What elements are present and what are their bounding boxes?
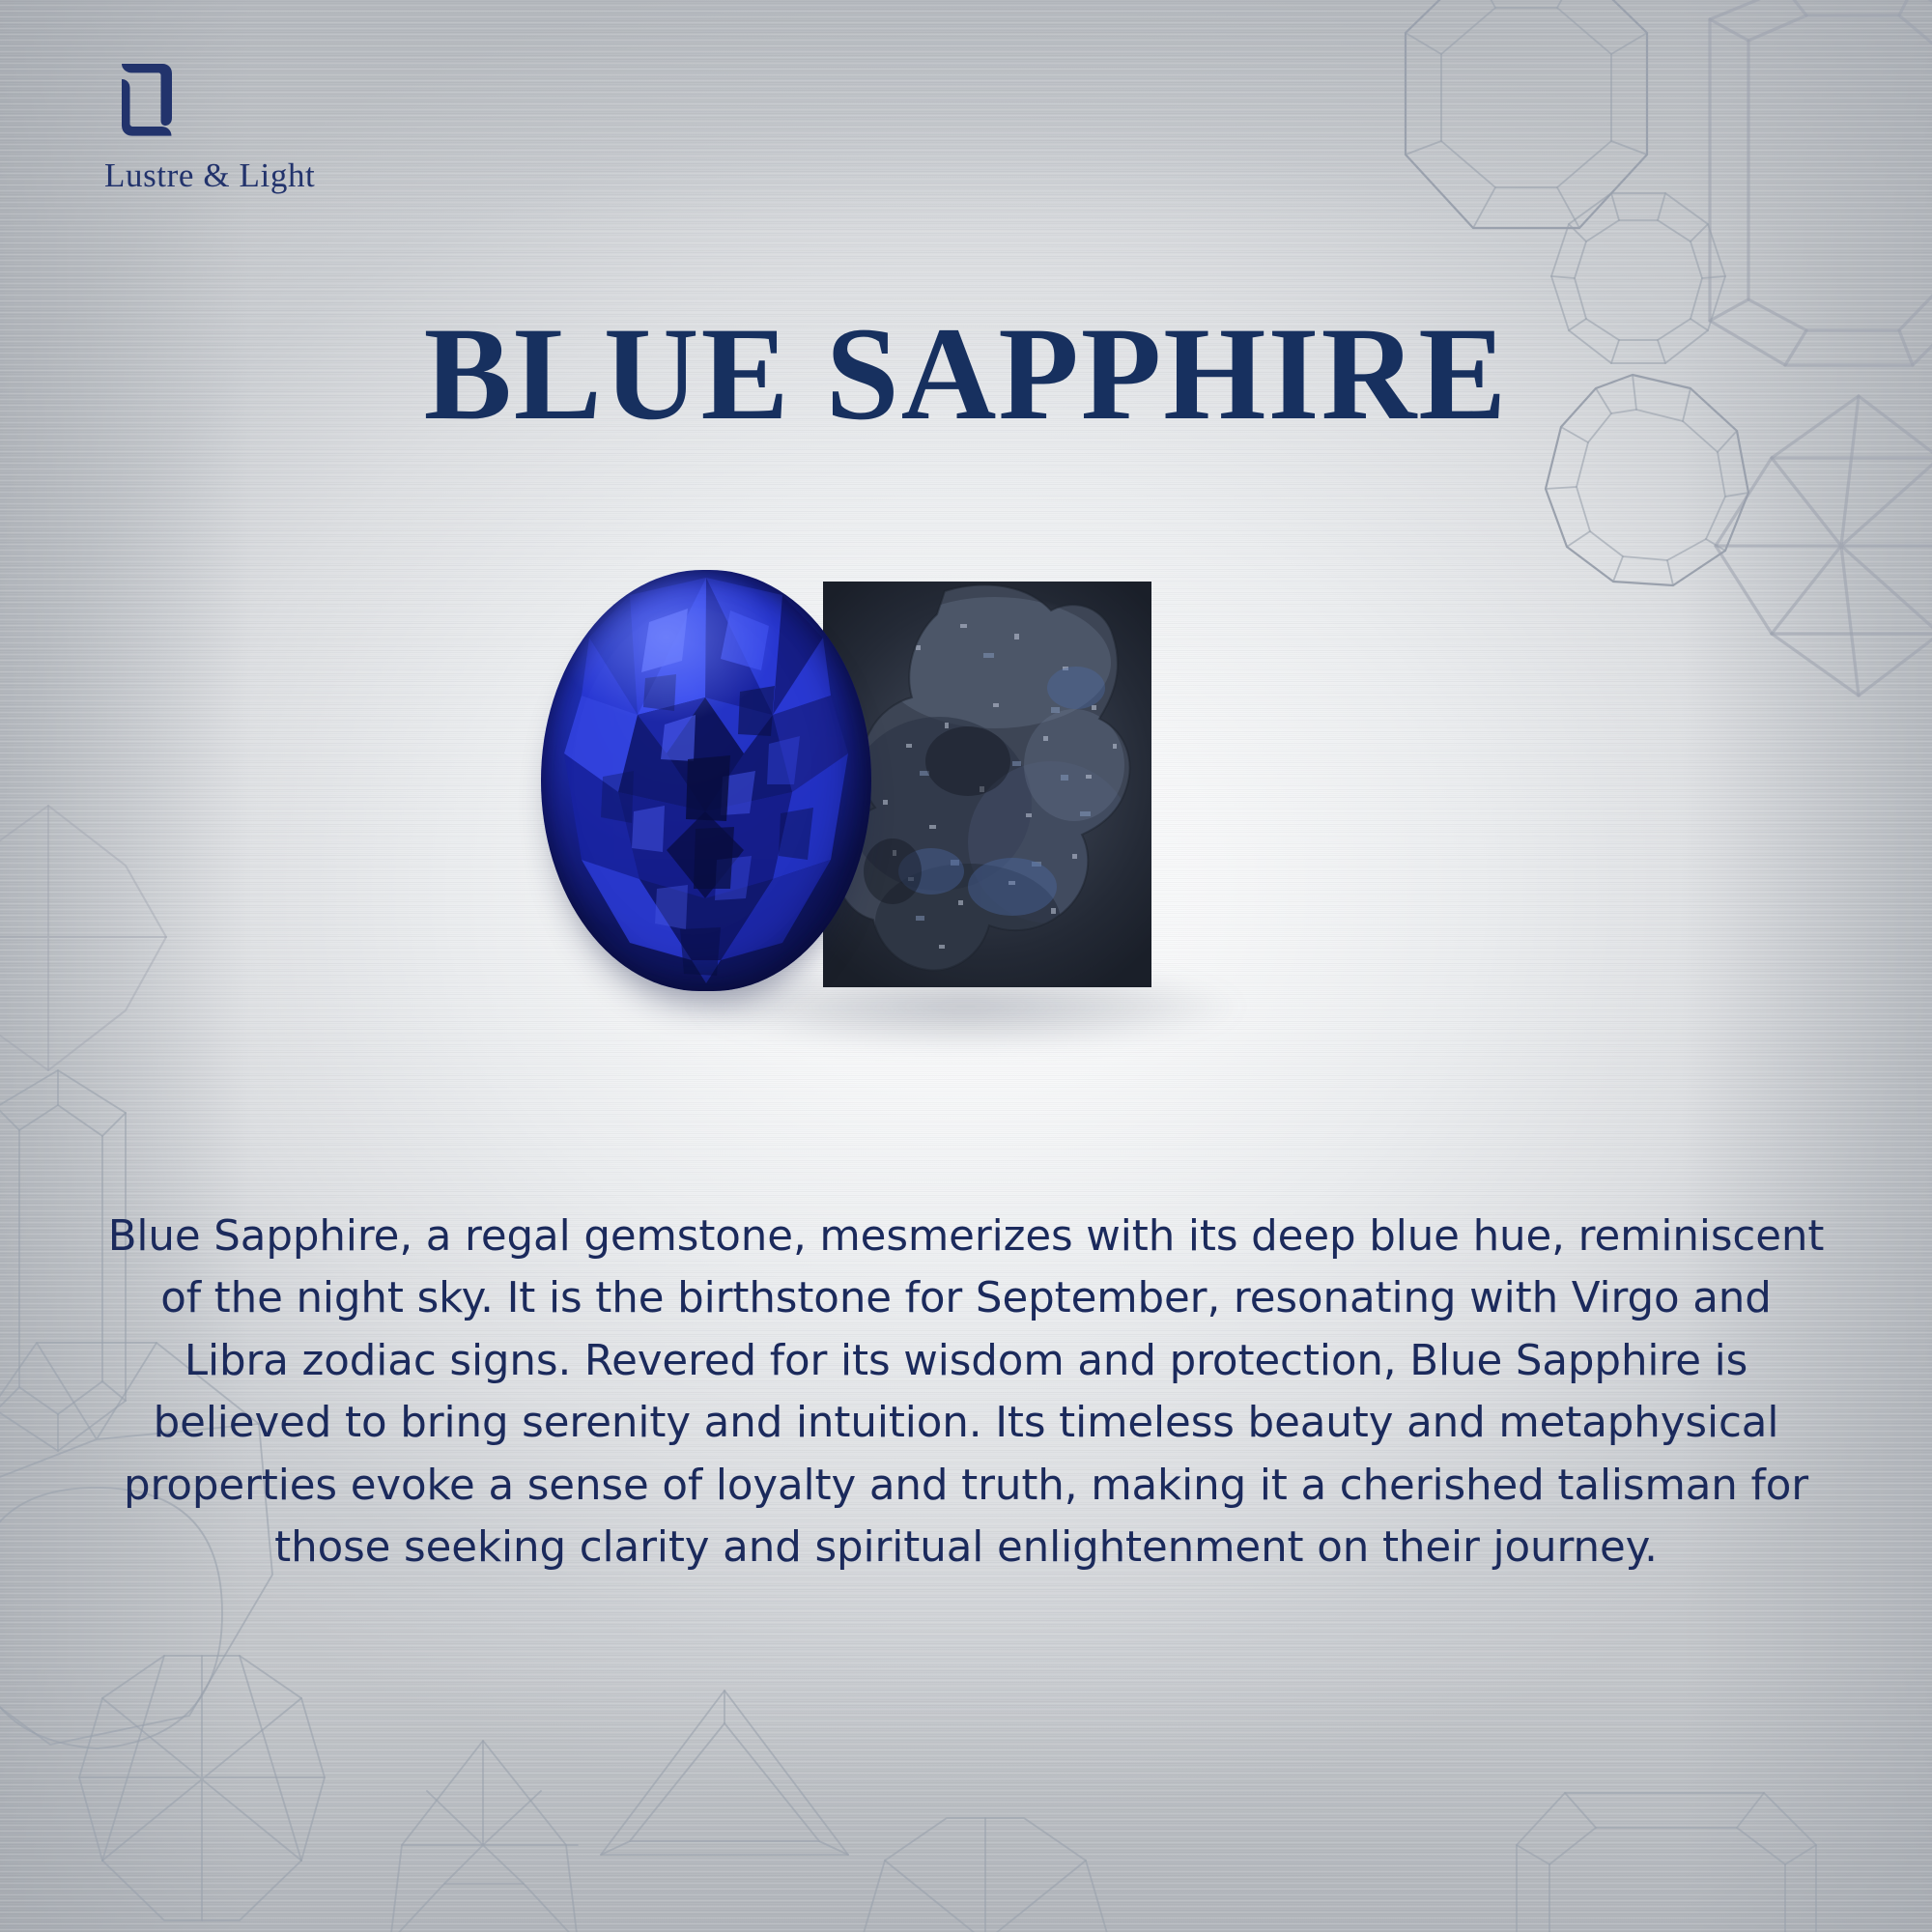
hero-gem-group bbox=[541, 570, 1391, 1082]
description-paragraph: Blue Sapphire, a regal gemstone, mesmeri… bbox=[106, 1206, 1826, 1578]
page-title: BLUE SAPPHIRE bbox=[10, 307, 1922, 440]
rough-surface-texture bbox=[823, 582, 1151, 987]
cut-oval-sapphire bbox=[541, 570, 871, 991]
poster-canvas: Lustre & Light BLUE SAPPHIRE bbox=[0, 0, 1932, 1932]
brand-wordmark: Lustre & Light bbox=[104, 156, 384, 195]
sapphire-rim bbox=[541, 570, 871, 991]
rough-sapphire-crystal bbox=[823, 582, 1151, 987]
brand-logo[interactable]: Lustre & Light bbox=[104, 58, 384, 195]
lustre-light-monogram-icon bbox=[112, 58, 182, 145]
